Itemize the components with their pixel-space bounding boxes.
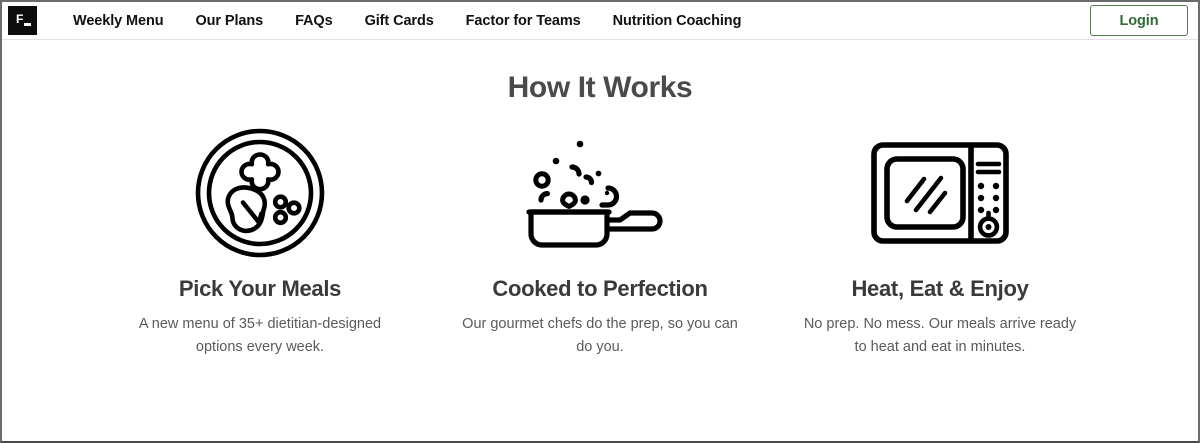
nav-item-our-plans[interactable]: Our Plans bbox=[180, 2, 280, 40]
logo-letter: F bbox=[16, 13, 23, 25]
site-header: F Weekly Menu Our Plans FAQs Gift Cards … bbox=[2, 2, 1198, 40]
nav-item-nutrition-coaching[interactable]: Nutrition Coaching bbox=[597, 2, 758, 40]
login-button[interactable]: Login bbox=[1090, 5, 1188, 36]
page-title: How It Works bbox=[2, 70, 1198, 106]
card-title: Cooked to Perfection bbox=[492, 276, 707, 302]
primary-navigation: Weekly Menu Our Plans FAQs Gift Cards Fa… bbox=[57, 2, 757, 40]
logo-underscore-icon bbox=[24, 23, 31, 26]
nav-item-weekly-menu[interactable]: Weekly Menu bbox=[57, 2, 180, 40]
factor-logo[interactable]: F bbox=[8, 6, 37, 35]
card-pick-your-meals: Pick Your Meals A new menu of 35+ dietit… bbox=[90, 128, 430, 358]
frying-pan-icon bbox=[525, 128, 675, 258]
how-it-works-cards: Pick Your Meals A new menu of 35+ dietit… bbox=[2, 128, 1198, 358]
card-cooked-to-perfection: Cooked to Perfection Our gourmet chefs d… bbox=[430, 128, 770, 358]
card-title: Heat, Eat & Enjoy bbox=[851, 276, 1028, 302]
how-it-works-section: How It Works bbox=[2, 40, 1198, 358]
card-description: No prep. No mess. Our meals arrive ready… bbox=[800, 313, 1080, 358]
card-description: A new menu of 35+ dietitian-designed opt… bbox=[120, 313, 400, 358]
nav-item-factor-for-teams[interactable]: Factor for Teams bbox=[450, 2, 597, 40]
page-root: F Weekly Menu Our Plans FAQs Gift Cards … bbox=[0, 0, 1200, 443]
nav-item-gift-cards[interactable]: Gift Cards bbox=[349, 2, 450, 40]
card-heat-eat-enjoy: Heat, Eat & Enjoy No prep. No mess. Our … bbox=[770, 128, 1110, 358]
card-description: Our gourmet chefs do the prep, so you ca… bbox=[460, 313, 740, 358]
card-title: Pick Your Meals bbox=[179, 276, 341, 302]
nav-item-faqs[interactable]: FAQs bbox=[279, 2, 348, 40]
microwave-icon bbox=[870, 128, 1010, 258]
plate-with-food-icon bbox=[193, 128, 327, 258]
